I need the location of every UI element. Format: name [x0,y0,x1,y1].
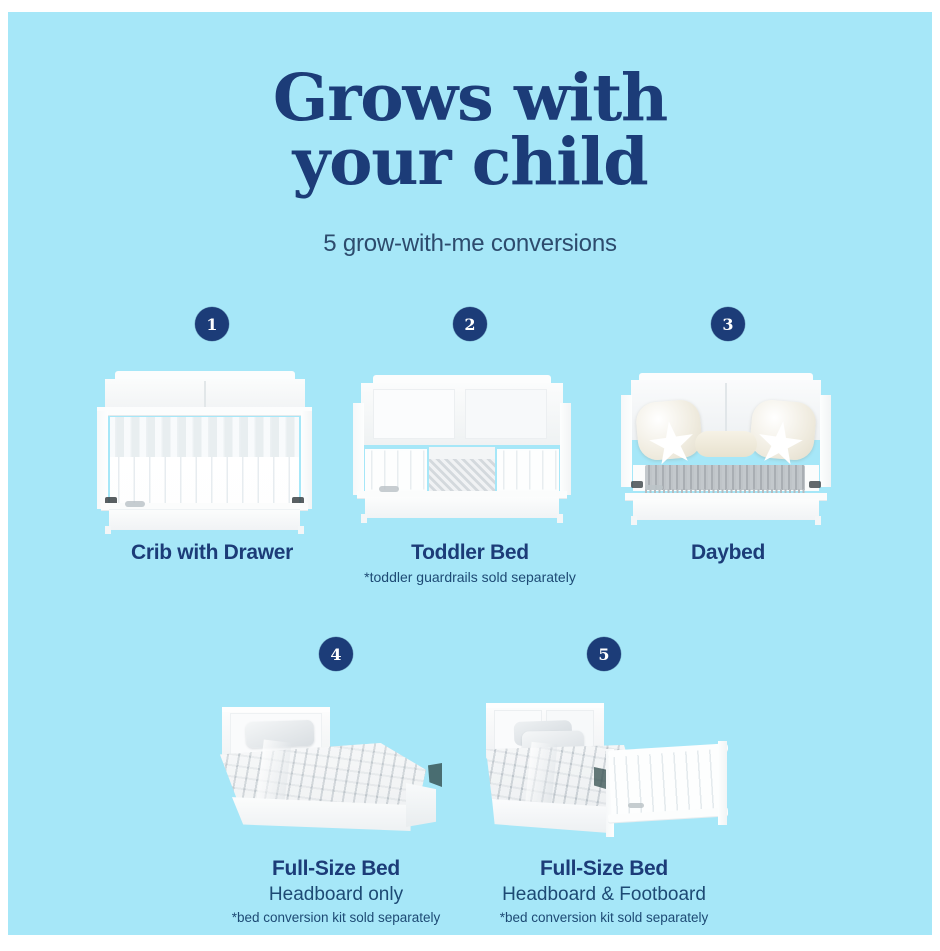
daybed-leg-left [631,516,637,525]
brand-logo-badge [628,803,644,808]
bed4-headboard-top-edge [222,707,330,712]
toddler-headboard-inset-left [373,389,455,439]
conversion-caption-3: Daybed [691,541,765,565]
brand-logo-badge [645,485,663,490]
conversion-caption-1: Crib with Drawer [131,541,293,565]
page-title: Grows with your child [8,67,932,194]
conversion-caption-2: Toddler Bed *toddler guardrails sold sep… [364,541,576,585]
toddler-guardrail-right [497,449,559,491]
step-badge-4: 4 [319,637,353,671]
conversion-title-4: Full-Size Bed [232,857,441,881]
conversion-note-4: *bed conversion kit sold separately [232,910,441,925]
conversion-subtitle-4: Headboard only [232,884,441,906]
conversion-item-daybed[interactable]: 3 [599,307,857,585]
daybed-caster-right [809,481,821,488]
conversion-caption-4: Full-Size Bed Headboard only *bed conver… [232,857,441,925]
bed5-frame-corner-bracket [594,767,606,789]
full-size-bed-headboard-footboard-image [470,689,738,849]
conversion-note-5: *bed conversion kit sold separately [500,910,709,925]
page-title-line-2: your child [8,131,932,195]
brand-logo-badge [125,501,145,507]
toddler-headboard-inset-right [465,389,547,439]
conversion-item-full-size-bed-headboard-footboard[interactable]: 5 [470,637,738,925]
crib-post-right [301,411,312,509]
daybed-headboard-divider [725,383,727,437]
bed4-comforter-quilting [220,743,426,807]
conversions-row-1: 1 [8,307,932,585]
full-bed-headboard-illustration [216,707,454,847]
daybed-drawer [633,499,819,520]
step-badge-5: 5 [587,637,621,671]
crib-lower-slats [110,457,299,503]
bed5-headboard-top-edge [486,703,604,708]
toddler-bed-illustration [353,375,571,525]
daybed-caster-left [631,481,643,488]
daybed-post-right [820,395,831,487]
conversion-title-1: Crib with Drawer [131,541,293,565]
toddler-blanket-texture [429,459,495,491]
conversion-title-5: Full-Size Bed [500,857,709,881]
crib-post-left [97,411,108,509]
toddler-post-left [353,403,364,495]
conversion-subtitle-5: Headboard & Footboard [500,884,709,906]
conversion-item-full-size-bed-headboard[interactable]: 4 Full-Size Bed Headboard only [202,637,470,925]
full-size-bed-headboard-image [202,689,470,849]
toddler-drawer [365,497,559,518]
crib-leg-right [298,526,304,534]
step-badge-3: 3 [711,307,745,341]
conversion-note-2: *toddler guardrails sold separately [364,569,576,585]
crib-drawer [109,509,300,530]
toddler-leg-right [557,514,563,523]
toddler-bed-image [341,363,599,533]
crib-leg-left [105,526,111,534]
bed5-footboard-post-right [718,741,727,825]
conversion-item-crib-with-drawer[interactable]: 1 [83,307,341,585]
full-bed-headboard-footboard-illustration [486,703,730,853]
bed4-frame-corner-bracket [428,763,442,787]
brand-logo-badge [379,486,399,492]
daybed-bolster-pillow [695,431,757,457]
daybed-post-left [621,395,632,487]
step-badge-2: 2 [453,307,487,341]
conversion-caption-5: Full-Size Bed Headboard & Footboard *bed… [500,857,709,925]
conversion-item-toddler-bed[interactable]: 2 [341,307,599,585]
conversion-title-2: Toddler Bed [364,541,576,565]
toddler-post-right [560,403,571,495]
step-badge-1: 1 [195,307,229,341]
crib-illustration [97,371,312,526]
crib-top-rail [97,407,312,415]
daybed-leg-right [815,516,821,525]
bed4-bed-skirt-end [406,783,436,827]
conversion-title-3: Daybed [691,541,765,565]
toddler-leg-left [361,514,367,523]
crib-headboard-divider [204,381,206,407]
promo-graphic-panel: Grows with your child 5 grow-with-me con… [8,12,932,935]
daybed-illustration [621,373,831,528]
conversions-row-2: 4 Full-Size Bed Headboard only [8,637,932,925]
daybed-image [599,363,857,533]
toddler-guardrail-left [365,449,427,491]
page-subtitle: 5 grow-with-me conversions [8,230,932,258]
daybed-striped-blanket [645,465,805,490]
crib-with-drawer-image [83,363,341,533]
